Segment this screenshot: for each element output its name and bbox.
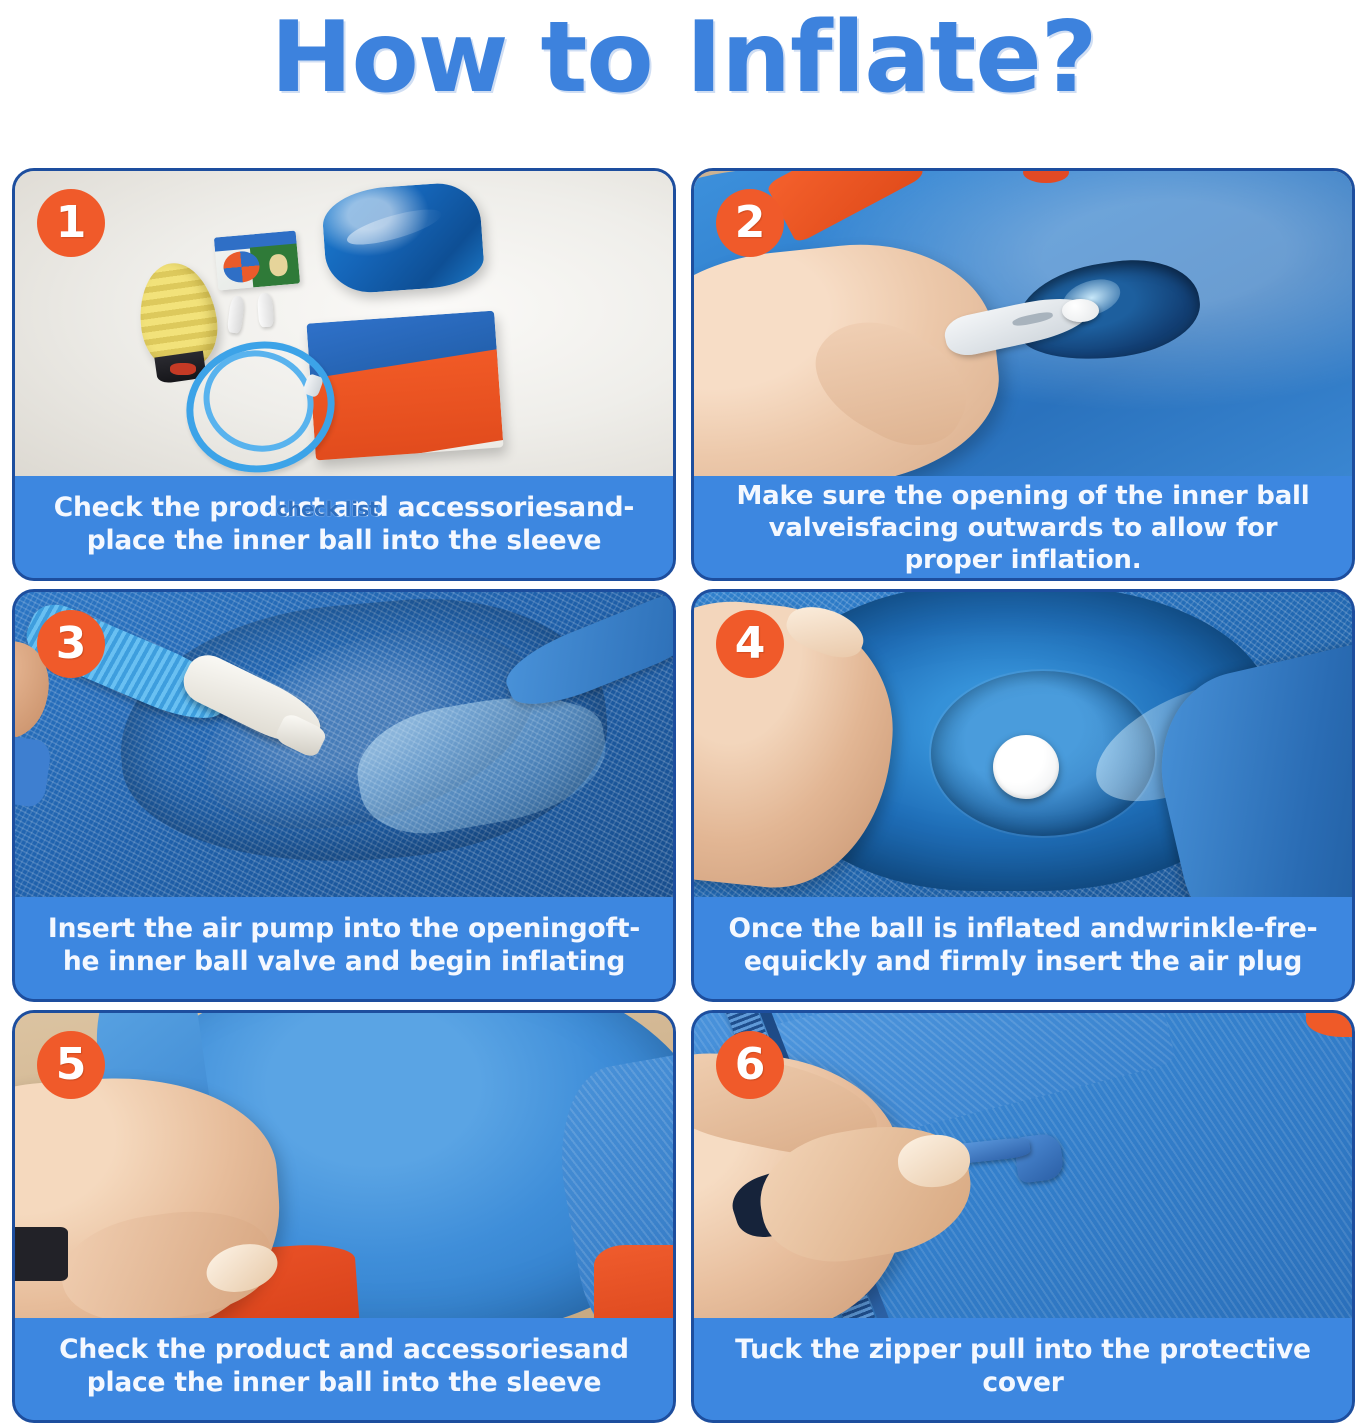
step-card-5: 5 Check the product and accessoriesand p… xyxy=(12,1010,676,1423)
step-card-3: 3 Insert the air pump into the openingof… xyxy=(12,589,676,1002)
caption-line-1a: Check the pro xyxy=(54,492,259,523)
step-card-4: 4 Once the ball is inflated andwrinkle-f… xyxy=(691,589,1355,1002)
caption-line-1: Check the product and accessoriesand xyxy=(59,1334,629,1365)
step-card-6: 6 Tuck the zipper pull into the protecti… xyxy=(691,1010,1355,1423)
caption-line-2: valveisfacing outwards to allow for xyxy=(769,513,1278,543)
step-caption-5: Check the product and accessoriesand pla… xyxy=(15,1318,673,1420)
sleeve-shadow-gap xyxy=(15,1227,68,1282)
step-caption-1: Check the product and accessoriesand- pl… xyxy=(15,476,673,578)
step-photo-3: 3 xyxy=(15,592,673,897)
caption-line-2: place the inner ball into the sleeve xyxy=(87,525,602,556)
instruction-card xyxy=(214,230,301,290)
sleeve-orange-right xyxy=(594,1245,673,1318)
caption-line-2: equickly and firmly insert the air plug xyxy=(744,946,1302,977)
step-badge-1: 1 xyxy=(37,189,105,257)
caption-line-1: Once the ball is inflated andwrinkle-fre… xyxy=(729,913,1318,944)
infographic-page: How to Inflate? xyxy=(0,0,1367,1425)
step-badge-4: 4 xyxy=(716,610,784,678)
caption-line-2: place the inner ball into the sleeve xyxy=(87,1367,602,1398)
caption-line-3: proper inflation. xyxy=(905,545,1142,575)
step-photo-4: 4 xyxy=(694,592,1352,897)
caption-line-1b: duct and accessoriesand- xyxy=(259,492,634,523)
step-badge-2: 2 xyxy=(716,189,784,257)
step-photo-6: 6 xyxy=(694,1013,1352,1318)
step-card-1: 1 Check the product and accessoriesand- … xyxy=(12,168,676,581)
protective-cover xyxy=(307,311,504,461)
caption-line-1: Insert the air pump into the openingoft- xyxy=(48,913,640,944)
step-badge-6: 6 xyxy=(716,1031,784,1099)
steps-grid: 1 Check the product and accessoriesand- … xyxy=(12,168,1355,1423)
pump-valve xyxy=(170,363,196,375)
step-photo-2: 2 xyxy=(694,171,1352,476)
caption-line-1: Tuck the zipper pull into the protective… xyxy=(735,1334,1311,1398)
step-caption-2: Make sure the opening of the inner ball … xyxy=(694,476,1352,581)
white-air-plug xyxy=(1062,299,1098,322)
step-badge-3: 3 xyxy=(37,610,105,678)
inner-ball-deflated xyxy=(321,181,486,295)
caption-ghost-overlay: duct and accessoriesand- xyxy=(259,492,634,523)
page-title: How to Inflate? xyxy=(0,2,1367,114)
step-card-2: 2 Make sure the opening of the inner bal… xyxy=(691,168,1355,581)
step-photo-1: 1 xyxy=(15,171,673,476)
step-caption-4: Once the ball is inflated andwrinkle-fre… xyxy=(694,897,1352,999)
card-dog-graphic xyxy=(268,253,288,276)
step-caption-6: Tuck the zipper pull into the protective… xyxy=(694,1318,1352,1420)
caption-line-2: he inner ball valve and begin inflating xyxy=(63,946,625,977)
step-photo-5: 5 xyxy=(15,1013,673,1318)
caption-line-1: Make sure the opening of the inner ball xyxy=(737,481,1310,511)
step-badge-5: 5 xyxy=(37,1031,105,1099)
step-caption-3: Insert the air pump into the openingoft-… xyxy=(15,897,673,999)
